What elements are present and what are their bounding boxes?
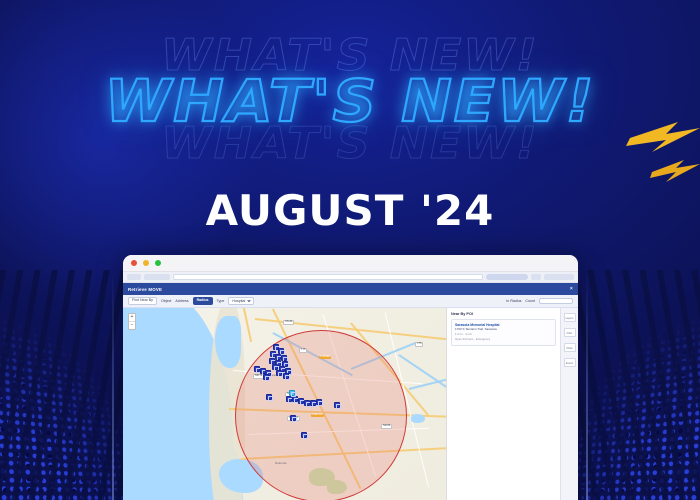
map-pin[interactable]: [316, 399, 322, 405]
type-label: Type: [217, 299, 225, 303]
map-zoom-out-button[interactable]: −: [129, 321, 135, 329]
window-close-button[interactable]: [131, 260, 137, 266]
map-highway-badge: Clark Rd: [311, 414, 324, 417]
map-pin[interactable]: [301, 432, 307, 438]
browser-titlebar: [123, 255, 578, 272]
map-pin[interactable]: [263, 374, 269, 380]
list-item[interactable]: Sarasota Memorial Hospital 1700 S Tamiam…: [451, 319, 556, 346]
map-shield: US-41: [283, 320, 294, 325]
headline-block: WHAT'S NEW! WHAT'S NEW! WHAT'S NEW! AUGU…: [0, 34, 700, 235]
light-streak-left: [112, 270, 114, 500]
browser-secure-pill: [486, 274, 528, 280]
month-subtitle: AUGUST '24: [0, 186, 700, 235]
browser-back-button[interactable]: [127, 274, 141, 280]
type-select[interactable]: Hospital: [228, 297, 254, 305]
light-streak-right: [586, 270, 588, 500]
app-header-bar: Retrieve MOVE ×: [123, 283, 578, 295]
rail-filter-button[interactable]: Filter: [564, 328, 576, 337]
app-body: US-41 I-75 SR-72 SR-70 US-301 I-75 SR-64…: [123, 308, 578, 500]
map-shield: SR-64: [381, 424, 392, 429]
map-highway-badge: Fruitville: [319, 356, 331, 359]
rail-layers-button[interactable]: Layers: [564, 313, 576, 322]
map-pin-selected[interactable]: [289, 390, 295, 396]
map-pin[interactable]: [290, 415, 296, 421]
count-label: Count: [525, 299, 535, 303]
page-title: WHAT'S NEW!: [0, 72, 700, 130]
browser-toolbar: [123, 272, 578, 283]
in-radius-label: In Radius: [506, 299, 521, 303]
map-town-label-2: Nokomis: [275, 462, 287, 465]
map-inlet: [215, 316, 241, 368]
map-pin[interactable]: [283, 373, 289, 379]
browser-menu-button[interactable]: [531, 274, 541, 280]
browser-profile-chip[interactable]: [544, 274, 574, 280]
map-pin[interactable]: [276, 370, 282, 376]
results-title: Near By POI: [451, 312, 556, 316]
window-maximize-button[interactable]: [155, 260, 161, 266]
app-toolbar: Find Near By Object Address Radius Type …: [123, 295, 578, 308]
browser-window-mockup: Retrieve MOVE × Find Near By Object Addr…: [123, 255, 578, 500]
browser-url-input[interactable]: [173, 274, 483, 280]
object-label: Object: [161, 299, 171, 303]
count-input[interactable]: [539, 298, 573, 304]
radius-toggle-button[interactable]: Radius: [193, 297, 213, 305]
result-hours: Open 24 hours · Emergency: [455, 338, 552, 342]
map-shield: I-75: [415, 342, 423, 347]
rail-export-button[interactable]: Export: [564, 358, 576, 367]
app-right-rail: Layers Filter Draw Export: [560, 308, 578, 500]
map-canvas[interactable]: US-41 I-75 SR-72 SR-70 US-301 I-75 SR-64…: [123, 308, 447, 500]
map-pond: [411, 414, 425, 423]
app-close-icon[interactable]: ×: [570, 286, 573, 292]
window-minimize-button[interactable]: [143, 260, 149, 266]
app-title: Retrieve MOVE: [128, 287, 162, 292]
find-near-by-button[interactable]: Find Near By: [128, 297, 157, 305]
map-shield: I-75: [299, 348, 307, 353]
map-zoom-in-button[interactable]: +: [129, 314, 135, 321]
map-zoom-controls[interactable]: + −: [128, 313, 136, 330]
rail-draw-button[interactable]: Draw: [564, 343, 576, 352]
address-label: Address: [175, 299, 188, 303]
map-pin[interactable]: [334, 402, 340, 408]
results-panel: Near By POI Sarasota Memorial Hospital 1…: [447, 308, 560, 500]
map-pin[interactable]: [266, 394, 272, 400]
browser-tab-icons[interactable]: [144, 274, 170, 280]
